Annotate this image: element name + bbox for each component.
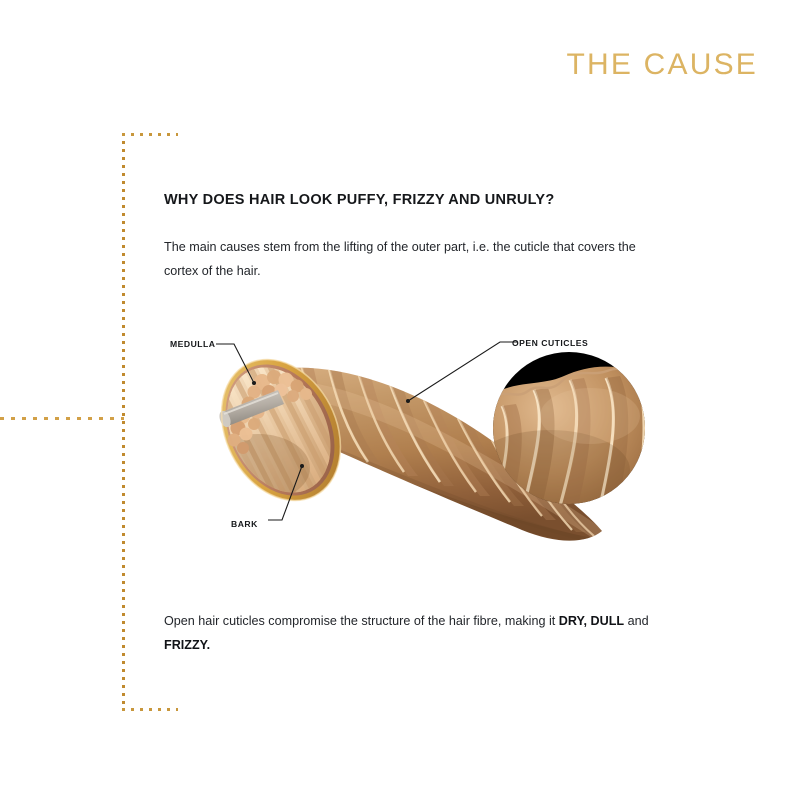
dotted-frame-bottom-edge (122, 708, 178, 711)
conclusion-emphasis-dry-dull: DRY, DULL (559, 614, 624, 628)
conclusion-paragraph: Open hair cuticles compromise the struct… (164, 609, 664, 657)
page-canvas: THE CAUSE WHY DOES HAIR LOOK PUFFY, FRIZ… (0, 0, 800, 800)
callout-label-medulla: MEDULLA (170, 339, 216, 349)
leader-dot-open-cuticles (406, 399, 410, 403)
hair-fibre-illustration-svg (150, 320, 670, 570)
conclusion-text-middle: and (624, 614, 649, 628)
leader-line-open-cuticles (408, 342, 518, 401)
intro-paragraph: The main causes stem from the lifting of… (164, 235, 644, 283)
section-heading: WHY DOES HAIR LOOK PUFFY, FRIZZY AND UNR… (164, 192, 554, 208)
conclusion-emphasis-frizzy: FRIZZY. (164, 638, 210, 652)
dotted-frame-top-edge (122, 133, 178, 136)
dotted-frame-left-edge (122, 133, 125, 711)
hair-cross-section-face (198, 339, 363, 521)
dotted-margin-rule (0, 417, 124, 420)
hair-fibre-diagram (150, 320, 670, 570)
conclusion-text-prefix: Open hair cuticles compromise the struct… (164, 614, 559, 628)
page-title: THE CAUSE (567, 50, 759, 80)
callout-label-bark: BARK (231, 519, 258, 529)
leader-dot-medulla (252, 381, 256, 385)
leader-dot-bark (300, 464, 304, 468)
callout-label-open-cuticles: OPEN CUTICLES (512, 338, 588, 348)
